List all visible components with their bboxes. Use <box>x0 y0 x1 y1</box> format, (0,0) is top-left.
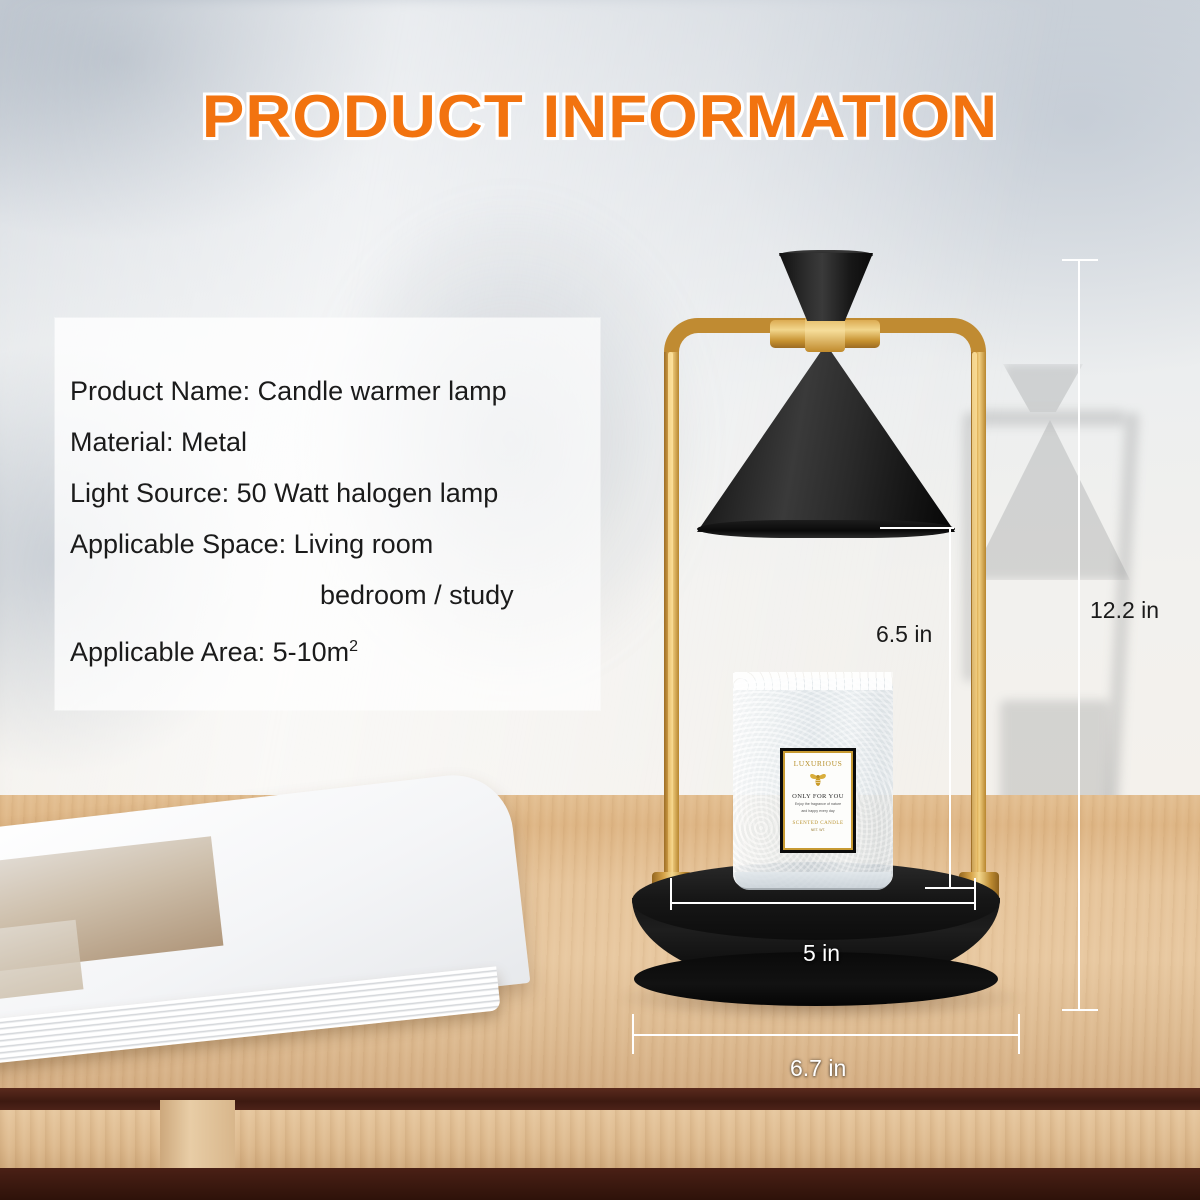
dim-65-top-tick <box>880 527 954 529</box>
candle-tagline-2: and happy every day <box>801 809 834 814</box>
dim-122-bottom-tick <box>1062 1009 1098 1011</box>
dim-5in-horizontal-line <box>670 902 975 904</box>
candle-tagline-1: Enjoy the fragrance of nature <box>795 802 841 807</box>
lamp-finial <box>779 253 873 321</box>
right-arm-highlight <box>972 352 977 892</box>
dim-67in-right-tick <box>1018 1014 1020 1054</box>
dim-65-vertical-line <box>949 527 951 889</box>
candle-product-type: SCENTED CANDLE <box>792 821 843 826</box>
candle-warmer-lamp: LUXURIOUS ONLY FOR YOU Enjoy the fragran… <box>0 0 1200 1200</box>
dim-label-total-height: 12.2 in <box>1090 597 1159 624</box>
candle-brand: LUXURIOUS <box>794 759 843 768</box>
product-information-banner: PRODUCT INFORMATION Product Name: Candle… <box>0 0 1200 1200</box>
candle-headline: ONLY FOR YOU <box>792 793 844 800</box>
dim-5in-left-tick <box>670 878 672 910</box>
dim-label-shade-to-base: 6.5 in <box>876 621 932 648</box>
candle-jar-scalloped-rim <box>733 672 893 690</box>
bee-icon <box>808 771 828 787</box>
lamp-shade-rim <box>697 520 955 538</box>
dim-label-base-width: 6.7 in <box>790 1055 846 1082</box>
candle-net-weight: NET. WT. <box>811 828 825 832</box>
dim-67in-horizontal-line <box>632 1034 1020 1036</box>
dim-65-bottom-tick <box>925 887 975 889</box>
candle-jar-bottom <box>735 872 891 890</box>
dim-122-vertical-line <box>1078 259 1080 1011</box>
lamp-hub-center <box>805 316 845 352</box>
candle-label: LUXURIOUS ONLY FOR YOU Enjoy the fragran… <box>786 754 850 847</box>
dim-label-base-inner: 5 in <box>803 940 840 967</box>
dim-122-top-tick <box>1062 259 1098 261</box>
dim-5in-right-tick <box>974 878 976 910</box>
left-arm-highlight <box>668 352 673 892</box>
